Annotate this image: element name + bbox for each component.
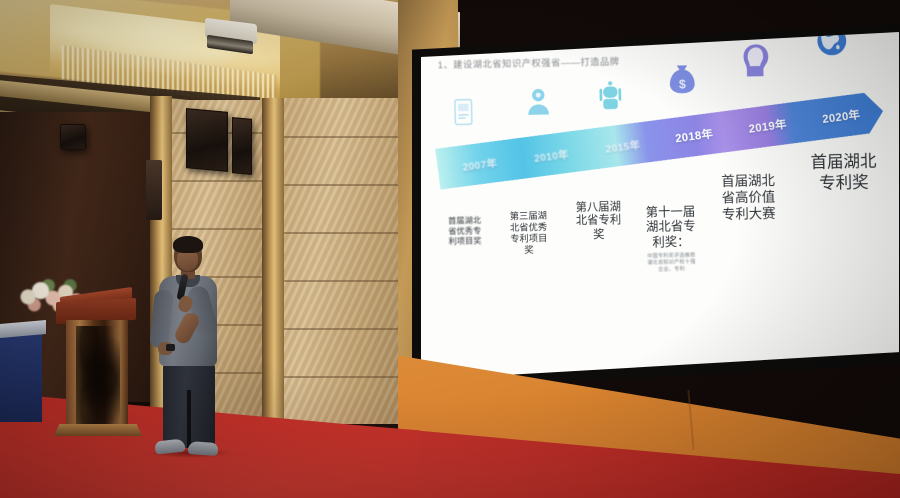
podium-base xyxy=(54,424,142,436)
projection-screen: 1、建设湖北省知识产权强省——打造品牌 xyxy=(421,32,899,380)
timeline-year-2010: 2010年 xyxy=(515,130,588,180)
wall-speaker-left-secondary xyxy=(232,117,252,175)
presentation-slide: 1、建设湖北省知识产权强省——打造品牌 xyxy=(421,32,899,380)
timeline-step-4: 第十一届 湖北省专 利奖： 中国专利奖评选推荐 湖北省知识产权十强 企业、专利 xyxy=(636,189,706,290)
timeline-step-4-text: 第十一届 湖北省专 利奖： xyxy=(646,204,696,249)
conference-hall-photo: 1、建设湖北省知识产权强省——打造品牌 xyxy=(0,0,900,498)
slide-title: 1、建设湖北省知识产权强省——打造品牌 xyxy=(438,54,620,71)
person-award-icon xyxy=(527,87,550,116)
presenter-shoe-right xyxy=(188,441,219,456)
wall-panel-b xyxy=(284,98,400,424)
presenter xyxy=(146,238,232,456)
wall-sconce xyxy=(146,160,162,220)
wall-gold-column-b xyxy=(262,98,284,426)
brain-head-icon xyxy=(742,43,769,79)
timeline-year-2007: 2007年 xyxy=(443,139,516,189)
timeline-step-3: 第八届湖 北省专利 奖 xyxy=(566,200,631,243)
timeline-year-2019: 2019年 xyxy=(729,101,806,151)
wall-speaker-corner xyxy=(60,124,86,150)
timeline-year-2015: 2015年 xyxy=(586,120,659,170)
side-table xyxy=(0,330,42,422)
document-tablet-icon xyxy=(453,98,474,125)
presenter-hair xyxy=(173,236,203,253)
timeline-step-6: 首届湖北 专利奖 xyxy=(796,152,892,194)
wall-speaker-left xyxy=(186,108,228,172)
timeline-step-1: 首届湖北 省优秀专 利项目奖 xyxy=(437,216,493,247)
timeline-year-2020: 2020年 xyxy=(803,91,880,141)
robot-icon xyxy=(599,79,622,110)
presenter-clicker xyxy=(166,344,175,351)
timeline-step-5: 首届湖北 省高价值 专利大赛 xyxy=(710,173,787,224)
presenter-leg-gap xyxy=(187,390,191,448)
podium-carving xyxy=(76,326,120,424)
svg-text:$: $ xyxy=(679,77,686,91)
timeline-year-2018: 2018年 xyxy=(656,111,733,161)
timeline-step-4-note: 中国专利奖评选推荐 湖北省知识产权十强 企业、专利 xyxy=(637,252,705,274)
money-bag-icon: $ xyxy=(668,63,695,94)
timeline-step-2: 第三届湖 北省优秀 专利项目 奖 xyxy=(498,210,559,256)
